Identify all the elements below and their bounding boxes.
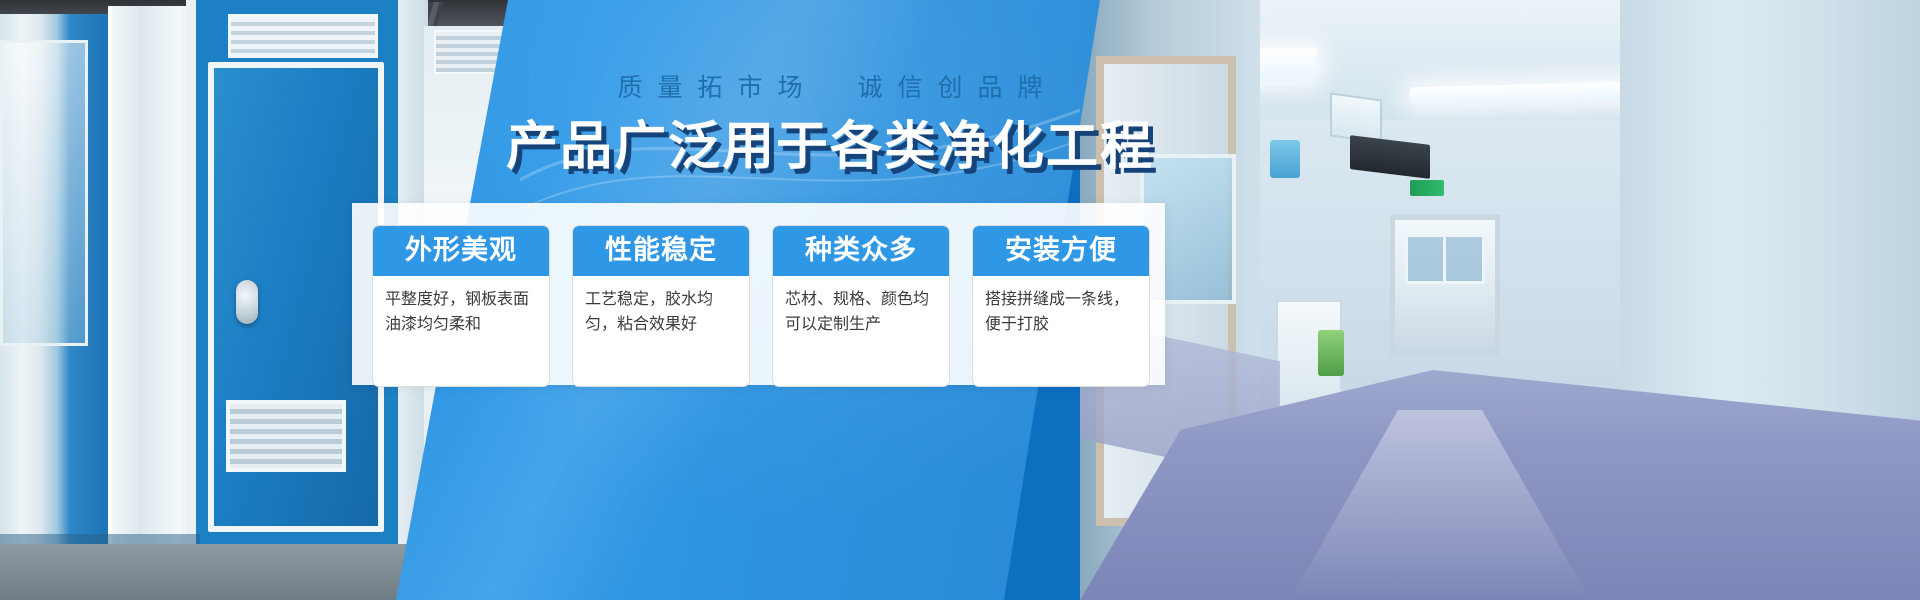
feature-card-3-body: 芯材、规格、颜色均可以定制生产 — [773, 276, 949, 386]
feature-cards-row: 外形美观 平整度好，钢板表面油漆均匀柔和 性能稳定 工艺稳定，胶水均匀，粘合效果… — [352, 203, 1165, 385]
feature-card-1[interactable]: 外形美观 平整度好，钢板表面油漆均匀柔和 — [372, 225, 550, 387]
cabin-door-handle — [236, 280, 258, 324]
feature-card-2-title: 性能稳定 — [573, 226, 749, 276]
cabin-left-partial — [0, 14, 114, 554]
cabin-top-vent — [228, 14, 378, 58]
feature-card-2-body: 工艺稳定，胶水均匀，粘合效果好 — [573, 276, 749, 386]
exit-sign — [1410, 180, 1444, 196]
feature-card-4[interactable]: 安装方便 搭接拼缝成一条线，便于打胶 — [972, 225, 1150, 387]
feature-card-2[interactable]: 性能稳定 工艺稳定，胶水均匀，粘合效果好 — [572, 225, 750, 387]
decorative-wave — [520, 60, 1080, 220]
feature-card-1-title: 外形美观 — [373, 226, 549, 276]
feature-card-3-title: 种类众多 — [773, 226, 949, 276]
cabin-lower-vent — [226, 400, 346, 472]
photo-cleanroom-corridor — [1080, 0, 1920, 600]
wall-control-box — [1270, 140, 1300, 178]
feature-card-4-title: 安装方便 — [973, 226, 1149, 276]
feature-card-3[interactable]: 种类众多 芯材、规格、颜色均可以定制生产 — [772, 225, 950, 387]
feature-card-4-body: 搭接拼缝成一条线，便于打胶 — [973, 276, 1149, 386]
corridor-end-double-door — [1390, 215, 1500, 355]
corridor-plant — [1318, 330, 1344, 376]
feature-card-1-body: 平整度好，钢板表面油漆均匀柔和 — [373, 276, 549, 386]
promo-banner: 质量拓市场 诚信创品牌 产品广泛用于各类净化工程 外形美观 平整度好，钢板表面油… — [0, 0, 1920, 600]
